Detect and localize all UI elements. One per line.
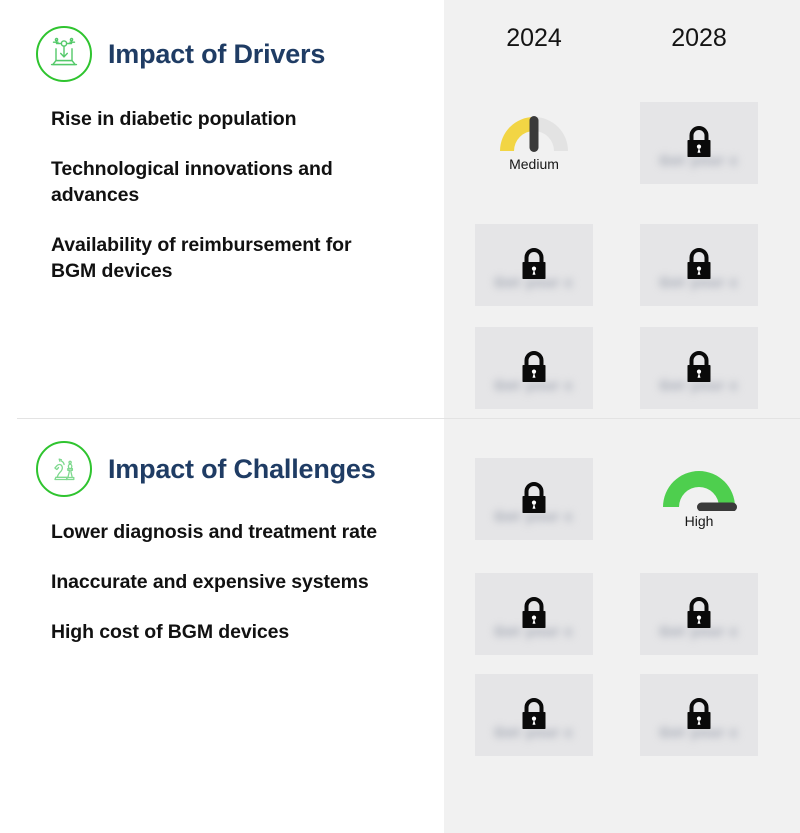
lock-icon: [517, 595, 551, 633]
cell-challenges-r3-2028: Get your c: [639, 672, 759, 758]
bullet-item: Rise in diabetic population: [51, 106, 401, 132]
bullet-item: Lower diagnosis and treatment rate: [51, 519, 401, 545]
lock-icon: [517, 480, 551, 518]
gauge-medium-2024: Medium: [474, 100, 594, 186]
lock-icon: [517, 696, 551, 734]
lock-icon: [682, 246, 716, 284]
cell-drivers-r1-2024: Medium: [474, 100, 594, 186]
column-header-2024: 2024: [474, 24, 594, 53]
locked-cell[interactable]: Get your c: [640, 674, 758, 756]
bullet-list-challenges: Lower diagnosis and treatment rate Inacc…: [51, 519, 401, 645]
lock-icon: [682, 124, 716, 162]
locked-cell[interactable]: Get your c: [475, 458, 593, 540]
cell-drivers-r1-2028: Get your c: [639, 100, 759, 186]
locked-cell[interactable]: Get your c: [475, 327, 593, 409]
cell-drivers-r3-2024: Get your c: [474, 325, 594, 411]
cell-drivers-r2-2028: Get your c: [639, 222, 759, 308]
bullet-item: Availability of reimbursement for BGM de…: [51, 232, 401, 284]
chess-pieces-icon: [36, 441, 92, 497]
lock-icon: [682, 349, 716, 387]
impact-matrix-page: 2024 2028 Impact of Drivers: [0, 0, 800, 833]
gauge-level-label: High: [685, 513, 714, 529]
lock-icon: [517, 246, 551, 284]
cell-challenges-r1-2024: Get your c: [474, 456, 594, 542]
locked-cell[interactable]: Get your c: [475, 224, 593, 306]
gauge-level-label: Medium: [509, 156, 559, 172]
cell-challenges-r2-2024: Get your c: [474, 571, 594, 657]
gauge-dial: [497, 114, 571, 154]
lock-icon: [682, 595, 716, 633]
cell-challenges-r2-2028: Get your c: [639, 571, 759, 657]
locked-cell[interactable]: Get your c: [640, 573, 758, 655]
section-title-challenges: Impact of Challenges: [108, 454, 376, 485]
section-header-drivers: Impact of Drivers: [36, 26, 325, 82]
section-drivers: Impact of Drivers Rise in diabetic popul…: [0, 0, 444, 418]
bullet-item: High cost of BGM devices: [51, 619, 401, 645]
bullet-item: Technological innovations and advances: [51, 156, 401, 208]
locked-cell[interactable]: Get your c: [475, 674, 593, 756]
section-title-drivers: Impact of Drivers: [108, 39, 325, 70]
bullet-item: Inaccurate and expensive systems: [51, 569, 401, 595]
locked-cell[interactable]: Get your c: [640, 327, 758, 409]
locked-cell[interactable]: Get your c: [640, 102, 758, 184]
section-header-challenges: Impact of Challenges: [36, 441, 376, 497]
cell-challenges-r3-2024: Get your c: [474, 672, 594, 758]
laptop-innovation-icon: [36, 26, 92, 82]
section-challenges: Impact of Challenges Lower diagnosis and…: [0, 419, 444, 833]
gauge-high-2028: High: [639, 456, 759, 542]
gauge-dial: [659, 469, 739, 511]
column-header-2028: 2028: [639, 24, 759, 53]
cell-challenges-r1-2028: High: [639, 456, 759, 542]
bullet-list-drivers: Rise in diabetic population Technologica…: [51, 106, 401, 284]
locked-cell[interactable]: Get your c: [475, 573, 593, 655]
cell-drivers-r3-2028: Get your c: [639, 325, 759, 411]
cell-drivers-r2-2024: Get your c: [474, 222, 594, 308]
locked-cell[interactable]: Get your c: [640, 224, 758, 306]
lock-icon: [517, 349, 551, 387]
lock-icon: [682, 696, 716, 734]
